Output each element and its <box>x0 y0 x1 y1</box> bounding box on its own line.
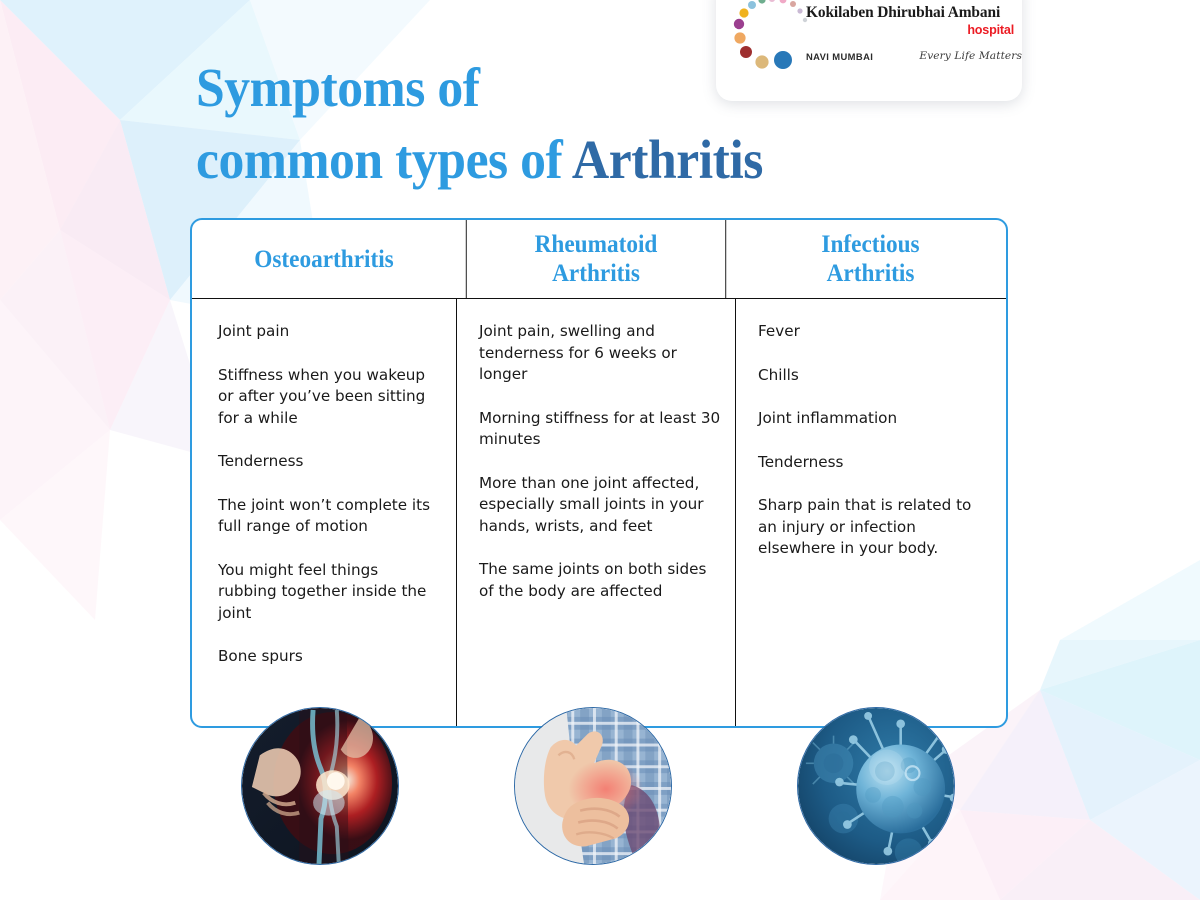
symptom-item: Tenderness <box>758 452 991 474</box>
column-header-osteoarthritis: Osteoarthritis <box>201 220 447 298</box>
symptom-item: Fever <box>758 321 991 343</box>
symptom-item: Sharp pain that is related to an injury … <box>758 495 991 560</box>
header-line: Infectious <box>821 230 919 259</box>
symptom-item: Bone spurs <box>218 646 438 668</box>
symptom-item: Joint inflammation <box>758 408 991 430</box>
title-line-1: Symptoms of <box>196 52 939 124</box>
knee-joint-pain-photo <box>241 707 399 865</box>
column-infectious-arthritis: Fever Chills Joint inflammation Tenderne… <box>736 299 1005 726</box>
symptom-list-infectious-arthritis: Fever Chills Joint inflammation Tenderne… <box>736 299 1005 560</box>
table-body-row: Joint pain Stiffness when you wakeup or … <box>192 299 1006 726</box>
wrist-hand-pain-photo <box>514 707 672 865</box>
symptoms-table: Osteoarthritis Rheumatoid Arthritis Infe… <box>190 218 1008 728</box>
header-line: Rheumatoid <box>535 230 658 259</box>
symptom-item: Stiffness when you wakeup or after you’v… <box>218 365 438 430</box>
title-line-2: common types of Arthritis <box>196 124 939 196</box>
symptom-item: The joint won’t complete its full range … <box>218 495 438 538</box>
logo-hospital-name: Kokilaben Dhirubhai Ambani <box>806 4 1018 22</box>
symptom-item: Joint pain, swelling and tenderness for … <box>479 321 721 386</box>
symptom-list-osteoarthritis: Joint pain Stiffness when you wakeup or … <box>192 299 456 668</box>
symptom-item: Morning stiffness for at least 30 minute… <box>479 408 721 451</box>
symptom-item: Joint pain <box>218 321 438 343</box>
virus-microbe-photo <box>797 707 955 865</box>
symptom-item: The same joints on both sides of the bod… <box>479 559 721 602</box>
column-rheumatoid-arthritis: Joint pain, swelling and tenderness for … <box>456 299 736 726</box>
symptom-list-rheumatoid-arthritis: Joint pain, swelling and tenderness for … <box>457 299 735 602</box>
column-osteoarthritis: Joint pain Stiffness when you wakeup or … <box>192 299 456 726</box>
logo-hospital-word: hospital <box>806 23 1014 37</box>
column-header-infectious-arthritis: Infectious Arthritis <box>745 220 995 298</box>
symptom-item: Tenderness <box>218 451 438 473</box>
header-line: Arthritis <box>821 259 919 288</box>
header-line: Arthritis <box>535 259 658 288</box>
title-line-2-plain: common types of <box>196 129 572 190</box>
table-header-row: Osteoarthritis Rheumatoid Arthritis Infe… <box>192 220 1006 299</box>
symptom-item: Chills <box>758 365 991 387</box>
column-header-rheumatoid-arthritis: Rheumatoid Arthritis <box>466 220 726 298</box>
symptom-item: You might feel things rubbing together i… <box>218 560 438 625</box>
page-title: Symptoms of common types of Arthritis <box>196 52 986 196</box>
symptom-item: More than one joint affected, especially… <box>479 473 721 538</box>
title-line-2-accent: Arthritis <box>572 129 763 190</box>
header-line: Osteoarthritis <box>254 245 393 274</box>
